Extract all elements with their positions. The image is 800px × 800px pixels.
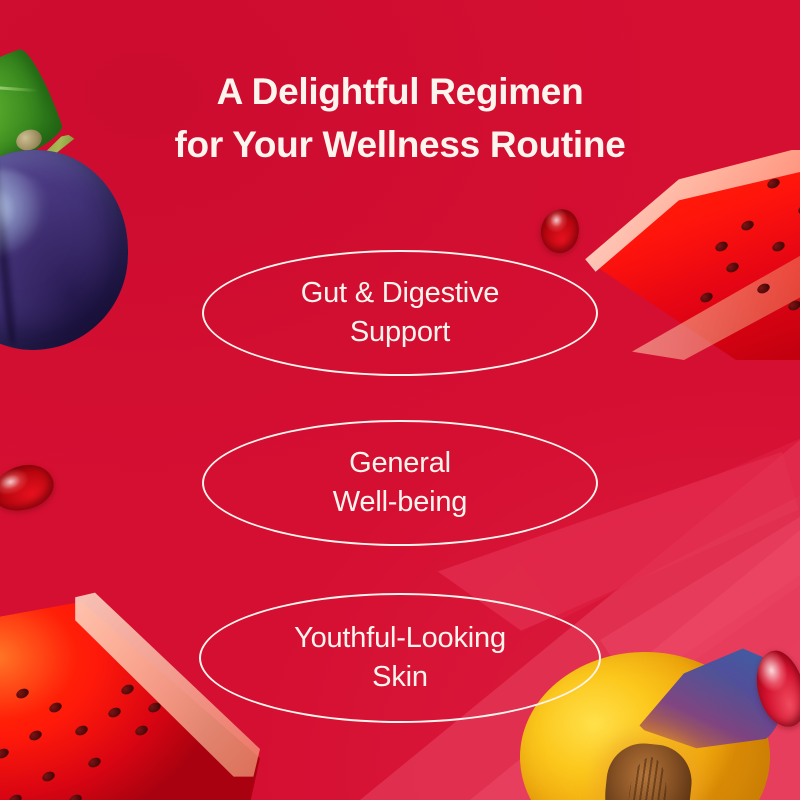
promo-graphic: A Delightful Regimen for Your Wellness R… [0, 0, 800, 800]
headline-line-2: for Your Wellness Routine [0, 119, 800, 172]
benefit-label: Gut & Digestive Support [301, 274, 499, 351]
benefit-label: General Well-being [333, 444, 467, 521]
benefit-ellipse-general-well-being: General Well-being [202, 420, 598, 546]
headline: A Delightful Regimen for Your Wellness R… [0, 66, 800, 171]
benefit-label: Youthful-Looking Skin [294, 619, 506, 696]
benefit-ellipse-youthful-looking-skin: Youthful-Looking Skin [199, 593, 601, 723]
headline-line-1: A Delightful Regimen [0, 66, 800, 119]
benefit-ellipse-gut-digestive-support: Gut & Digestive Support [202, 250, 598, 376]
